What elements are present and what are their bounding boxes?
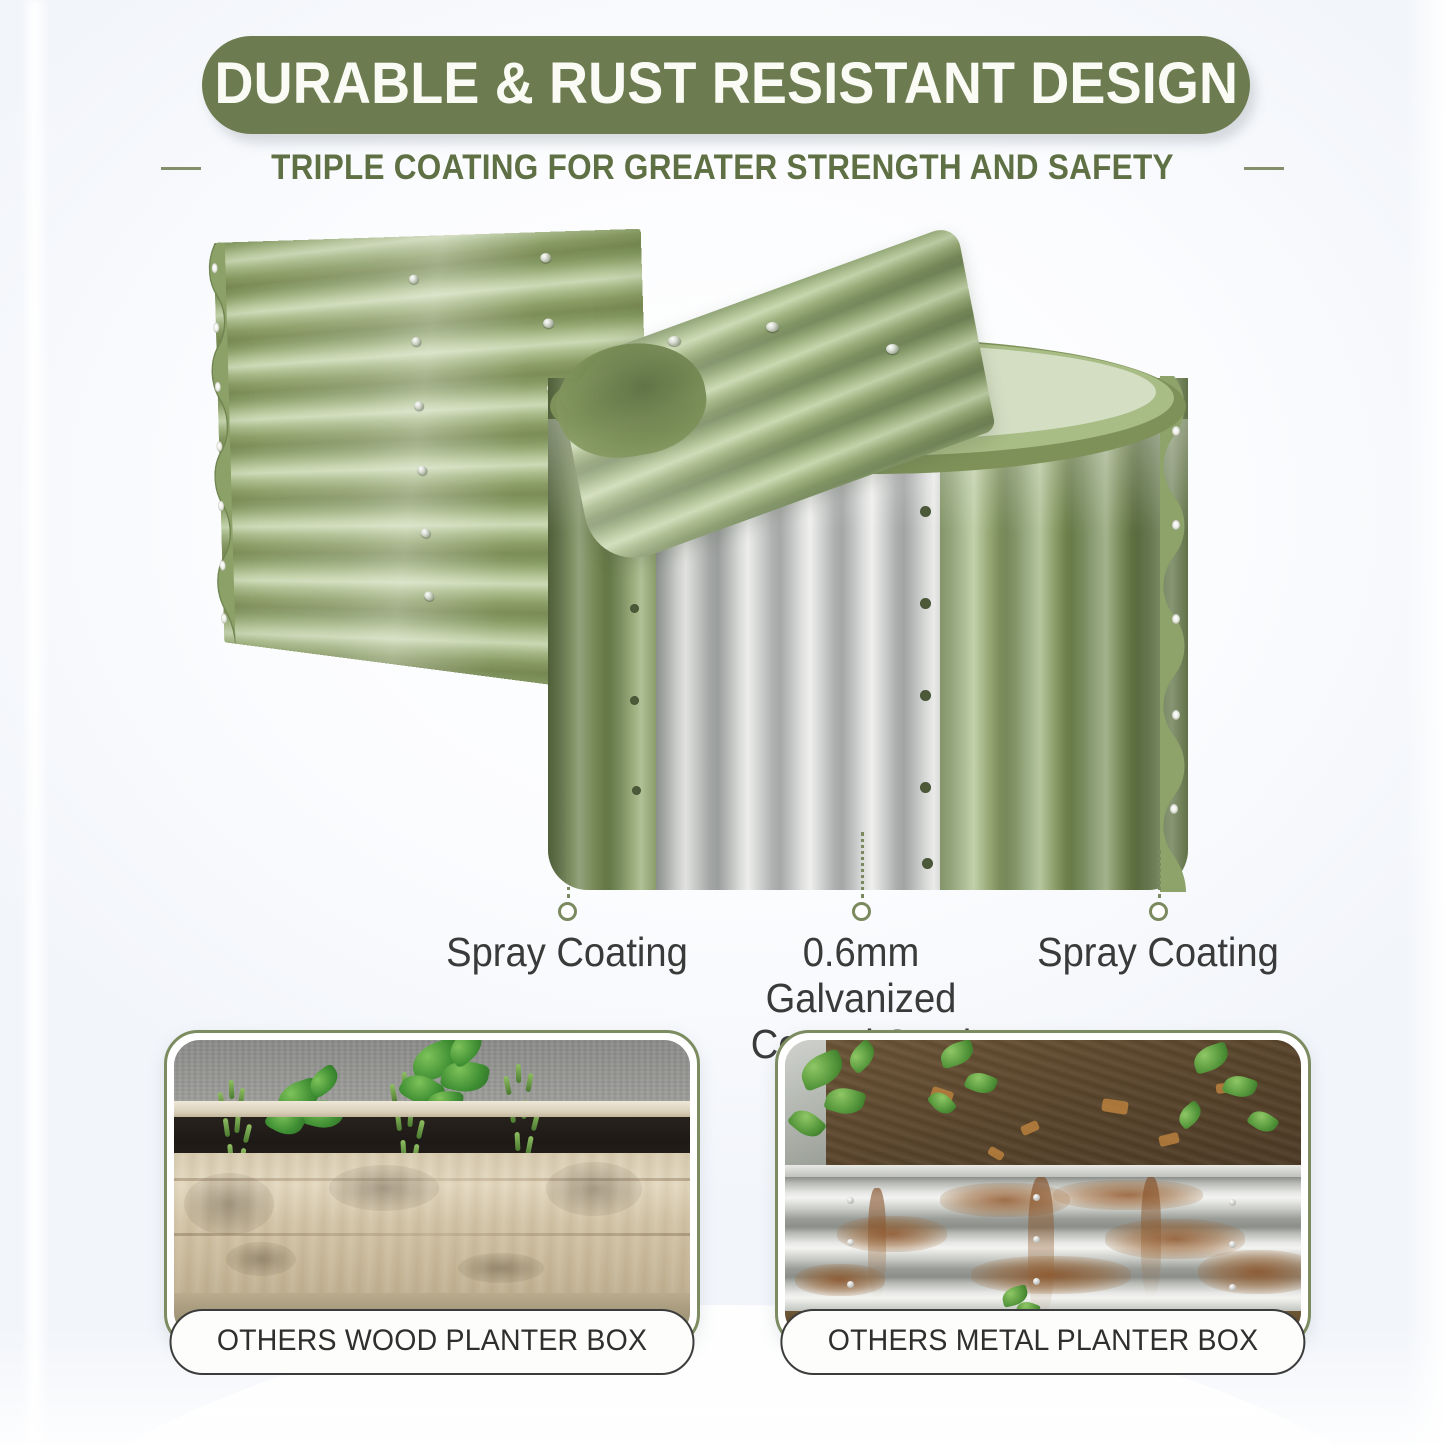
wood-planter-photo [174, 1040, 690, 1338]
callout-marker [852, 902, 871, 921]
metal-scene [785, 1040, 1301, 1338]
callout-marker [1149, 902, 1168, 921]
caption-wood-planter-text: OTHERS WOOD PLANTER BOX [217, 1324, 647, 1358]
callout-label-spray-coating-left: Spray Coating [432, 930, 702, 976]
planter-front-boards [174, 1153, 690, 1296]
caption-wood-planter: OTHERS WOOD PLANTER BOX [170, 1309, 695, 1375]
planter-top-rail [174, 1101, 690, 1117]
brown-soil [826, 1040, 1301, 1183]
corrugated-metal-ribs [785, 1177, 1301, 1317]
callout-label-spray-coating-right: Spray Coating [1023, 930, 1293, 976]
infographic-page: DURABLE & RUST RESISTANT DESIGN TRIPLE C… [0, 0, 1445, 1445]
callout-leader-line [567, 790, 570, 898]
callout-leader-line [1158, 850, 1161, 898]
comparison-card-metal: OTHERS METAL PLANTER BOX [775, 1030, 1311, 1348]
caption-metal-planter-text: OTHERS METAL PLANTER BOX [828, 1324, 1259, 1358]
comparison-card-wood: OTHERS WOOD PLANTER BOX [164, 1030, 700, 1348]
wood-scene [174, 1040, 690, 1338]
caption-metal-planter: OTHERS METAL PLANTER BOX [780, 1309, 1305, 1375]
metal-planter-photo [785, 1040, 1301, 1338]
callout-leader-line [861, 832, 864, 898]
callout-marker [558, 902, 577, 921]
